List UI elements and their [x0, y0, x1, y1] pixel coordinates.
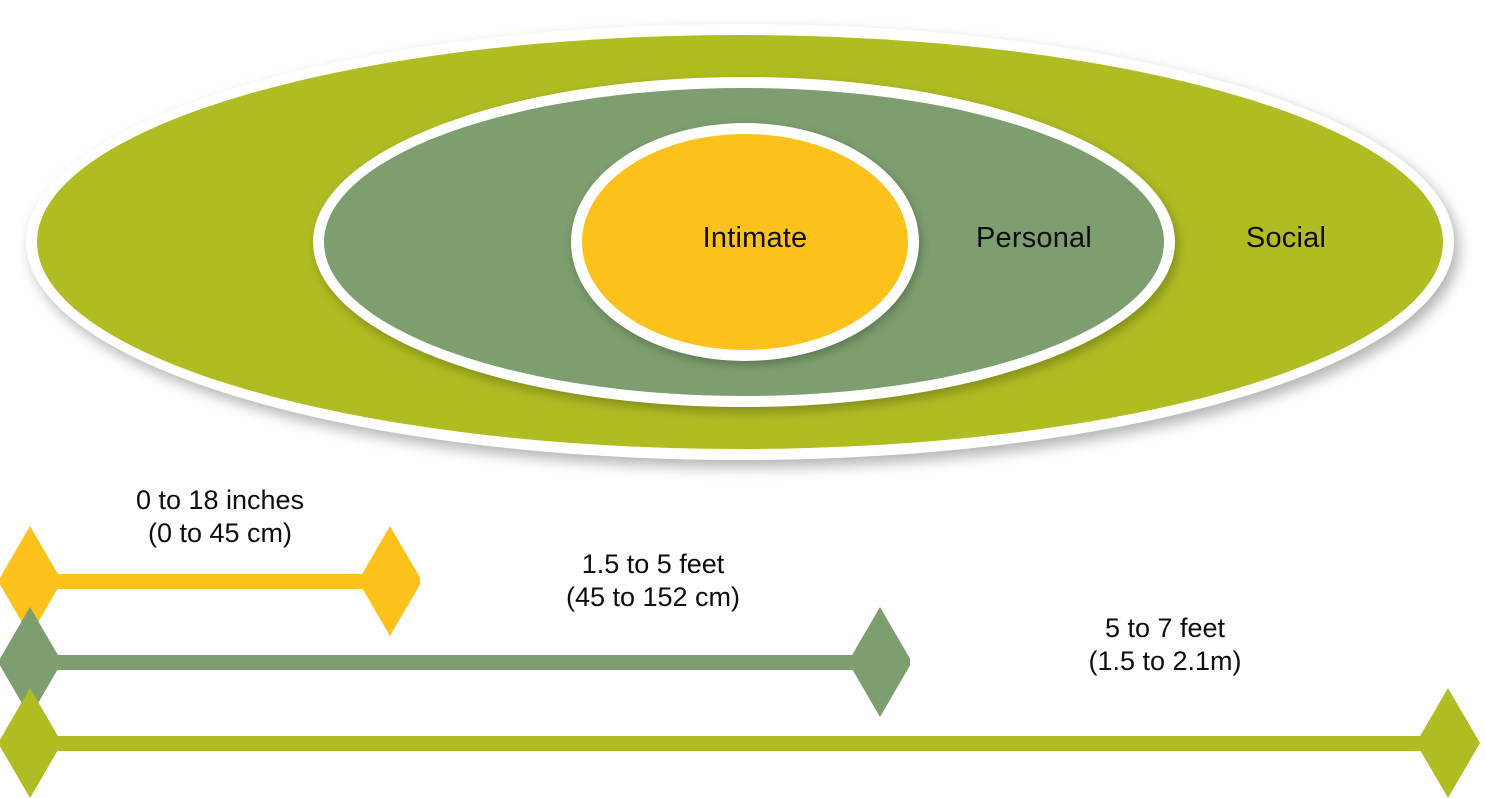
range-caption-social: 5 to 7 feet (1.5 to 2.1m) — [1020, 612, 1310, 678]
distance-range-arrows: 0 to 18 inches (0 to 45 cm) 1.5 to 5 fee… — [0, 470, 1486, 784]
range-caption-personal: 1.5 to 5 feet (45 to 152 cm) — [508, 548, 798, 614]
range-arrow-social-shape — [0, 688, 1486, 798]
range-caption-intimate: 0 to 18 inches (0 to 45 cm) — [75, 484, 365, 550]
range-caption-social-imperial: 5 to 7 feet — [1105, 613, 1225, 643]
diagram-canvas: Intimate Personal Social — [0, 0, 1486, 784]
range-caption-intimate-imperial: 0 to 18 inches — [136, 485, 304, 515]
range-arrow-social — [0, 688, 1486, 798]
range-caption-social-metric: (1.5 to 2.1m) — [1020, 645, 1310, 678]
range-caption-personal-imperial: 1.5 to 5 feet — [582, 549, 725, 579]
zone-label-personal: Personal — [934, 222, 1134, 255]
range-caption-intimate-metric: (0 to 45 cm) — [75, 517, 365, 550]
zone-label-intimate: Intimate — [655, 222, 855, 255]
zone-label-social: Social — [1186, 222, 1386, 255]
proxemic-zone-ellipses: Intimate Personal Social — [0, 0, 1486, 470]
range-caption-personal-metric: (45 to 152 cm) — [508, 581, 798, 614]
